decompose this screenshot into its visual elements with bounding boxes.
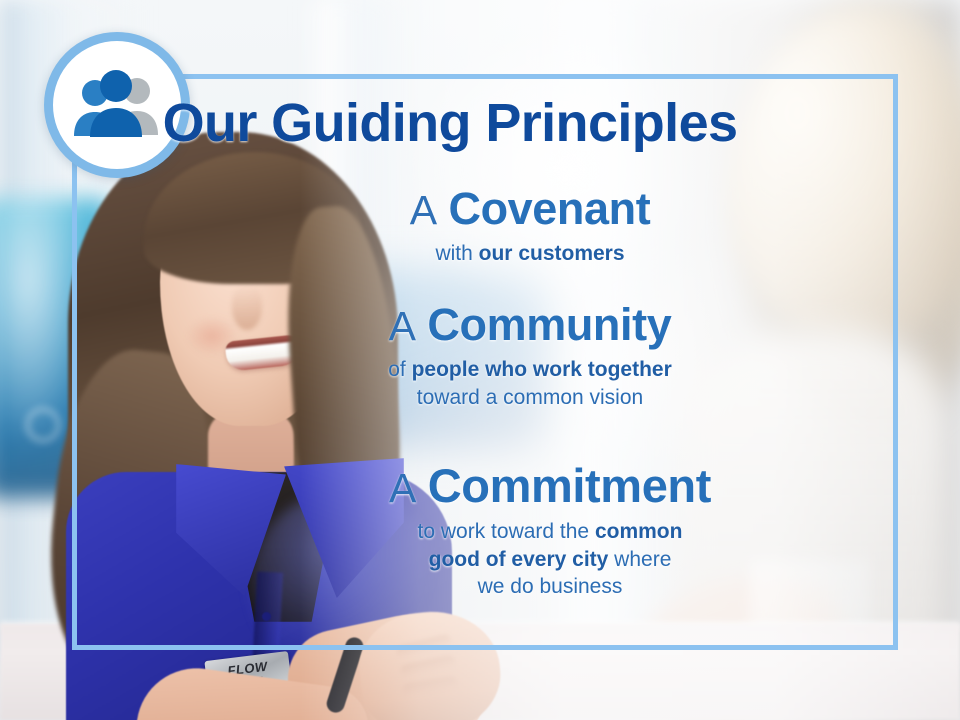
guiding-principles-graphic: FLOW FLOW AUTOMOTIVE bbox=[0, 0, 960, 720]
subtitle-text: toward a common vision bbox=[417, 386, 643, 409]
subtitle-text: we do business bbox=[478, 575, 623, 598]
subtitle-line: toward a common vision bbox=[250, 384, 810, 412]
subtitle-text: to work toward the bbox=[418, 520, 595, 543]
subtitle-line: we do business bbox=[250, 573, 850, 601]
subtitle-line: good of every city where bbox=[250, 546, 850, 574]
polo-button-upper bbox=[262, 612, 271, 621]
principle-covenant: A Covenant with our customers bbox=[250, 186, 810, 268]
principle-article: A bbox=[389, 303, 416, 349]
subtitle-text: with bbox=[435, 242, 478, 265]
principle-community: A Community of people who work togethert… bbox=[250, 302, 810, 411]
principle-commitment: A Commitment to work toward the commongo… bbox=[250, 462, 850, 601]
principle-subtitle: of people who work togethertoward a comm… bbox=[250, 356, 810, 411]
principle-heading: A Community bbox=[250, 302, 810, 348]
page-title: Our Guiding Principles bbox=[0, 96, 900, 150]
subtitle-text: of bbox=[388, 358, 411, 381]
principle-article: A bbox=[410, 187, 437, 233]
subtitle-emphasis: common bbox=[595, 520, 683, 543]
subtitle-line: to work toward the common bbox=[250, 518, 850, 546]
subtitle-line: with our customers bbox=[250, 240, 810, 268]
subtitle-emphasis: good of every city bbox=[429, 548, 609, 571]
principle-noun: Community bbox=[427, 299, 671, 350]
principle-subtitle: to work toward the commongood of every c… bbox=[250, 518, 850, 601]
principle-noun: Covenant bbox=[448, 183, 650, 234]
principle-subtitle: with our customers bbox=[250, 240, 810, 268]
principle-noun: Commitment bbox=[428, 459, 711, 512]
subtitle-line: of people who work together bbox=[250, 356, 810, 384]
subtitle-emphasis: people who work together bbox=[412, 358, 672, 381]
principle-article: A bbox=[389, 465, 416, 511]
subtitle-text: where bbox=[608, 548, 671, 571]
principle-heading: A Covenant bbox=[250, 186, 810, 232]
principle-heading: A Commitment bbox=[250, 462, 850, 510]
subtitle-emphasis: our customers bbox=[479, 242, 625, 265]
